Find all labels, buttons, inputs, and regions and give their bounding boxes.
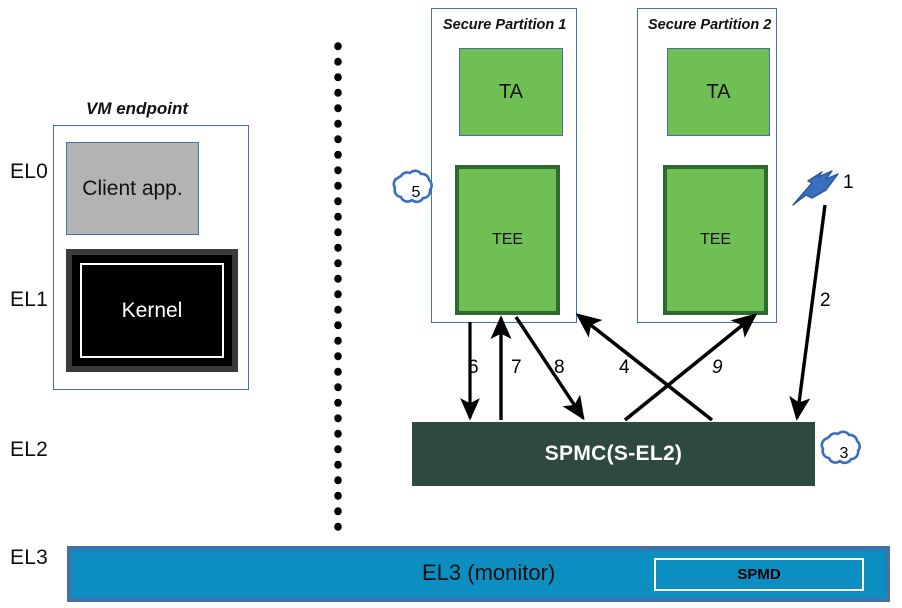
spmd-box: SPMD	[654, 558, 864, 591]
lightning-bolt-icon	[793, 171, 838, 205]
cloud-callout-3: 3	[826, 436, 862, 472]
flow-label-6: 6	[468, 357, 479, 379]
partition-2-ta-box: TA	[667, 48, 770, 136]
flow-label-7: 7	[511, 357, 522, 379]
flow-label-8: 8	[554, 357, 565, 379]
el3-monitor-label: EL3 (monitor)	[422, 560, 555, 586]
diagram-canvas: EL0 EL1 EL2 EL3 VM endpoint Client app. …	[0, 0, 902, 608]
el3-label: EL3	[10, 546, 48, 570]
client-app-box: Client app.	[66, 142, 199, 235]
arrow-9	[625, 315, 755, 420]
kernel-box: Kernel	[66, 249, 238, 372]
partition-2-tee-box: TEE	[663, 165, 768, 315]
el1-label: EL1	[10, 288, 48, 312]
partition-1-tee-box: TEE	[455, 165, 560, 315]
arrow-callout-2-label: 2	[820, 290, 831, 312]
spmc-box: SPMC(S-EL2)	[412, 422, 815, 486]
kernel-label: Kernel	[80, 263, 224, 358]
partition-1-ta-box: TA	[459, 48, 563, 136]
flow-label-9: 9	[712, 357, 723, 379]
cloud-callout-3-label: 3	[826, 445, 862, 463]
vm-endpoint-title: VM endpoint	[86, 99, 188, 119]
arrow-4	[578, 315, 712, 420]
cloud-callout-5-label: 5	[398, 184, 434, 202]
el2-label: EL2	[10, 438, 48, 462]
el0-label: EL0	[10, 160, 48, 184]
bolt-callout-1-label: 1	[843, 172, 854, 194]
arrow-8	[516, 317, 583, 418]
secure-partition-2-title: Secure Partition 2	[648, 17, 771, 33]
flow-label-4: 4	[619, 357, 630, 379]
secure-partition-1-title: Secure Partition 1	[443, 17, 566, 33]
cloud-callout-5: 5	[398, 175, 434, 211]
